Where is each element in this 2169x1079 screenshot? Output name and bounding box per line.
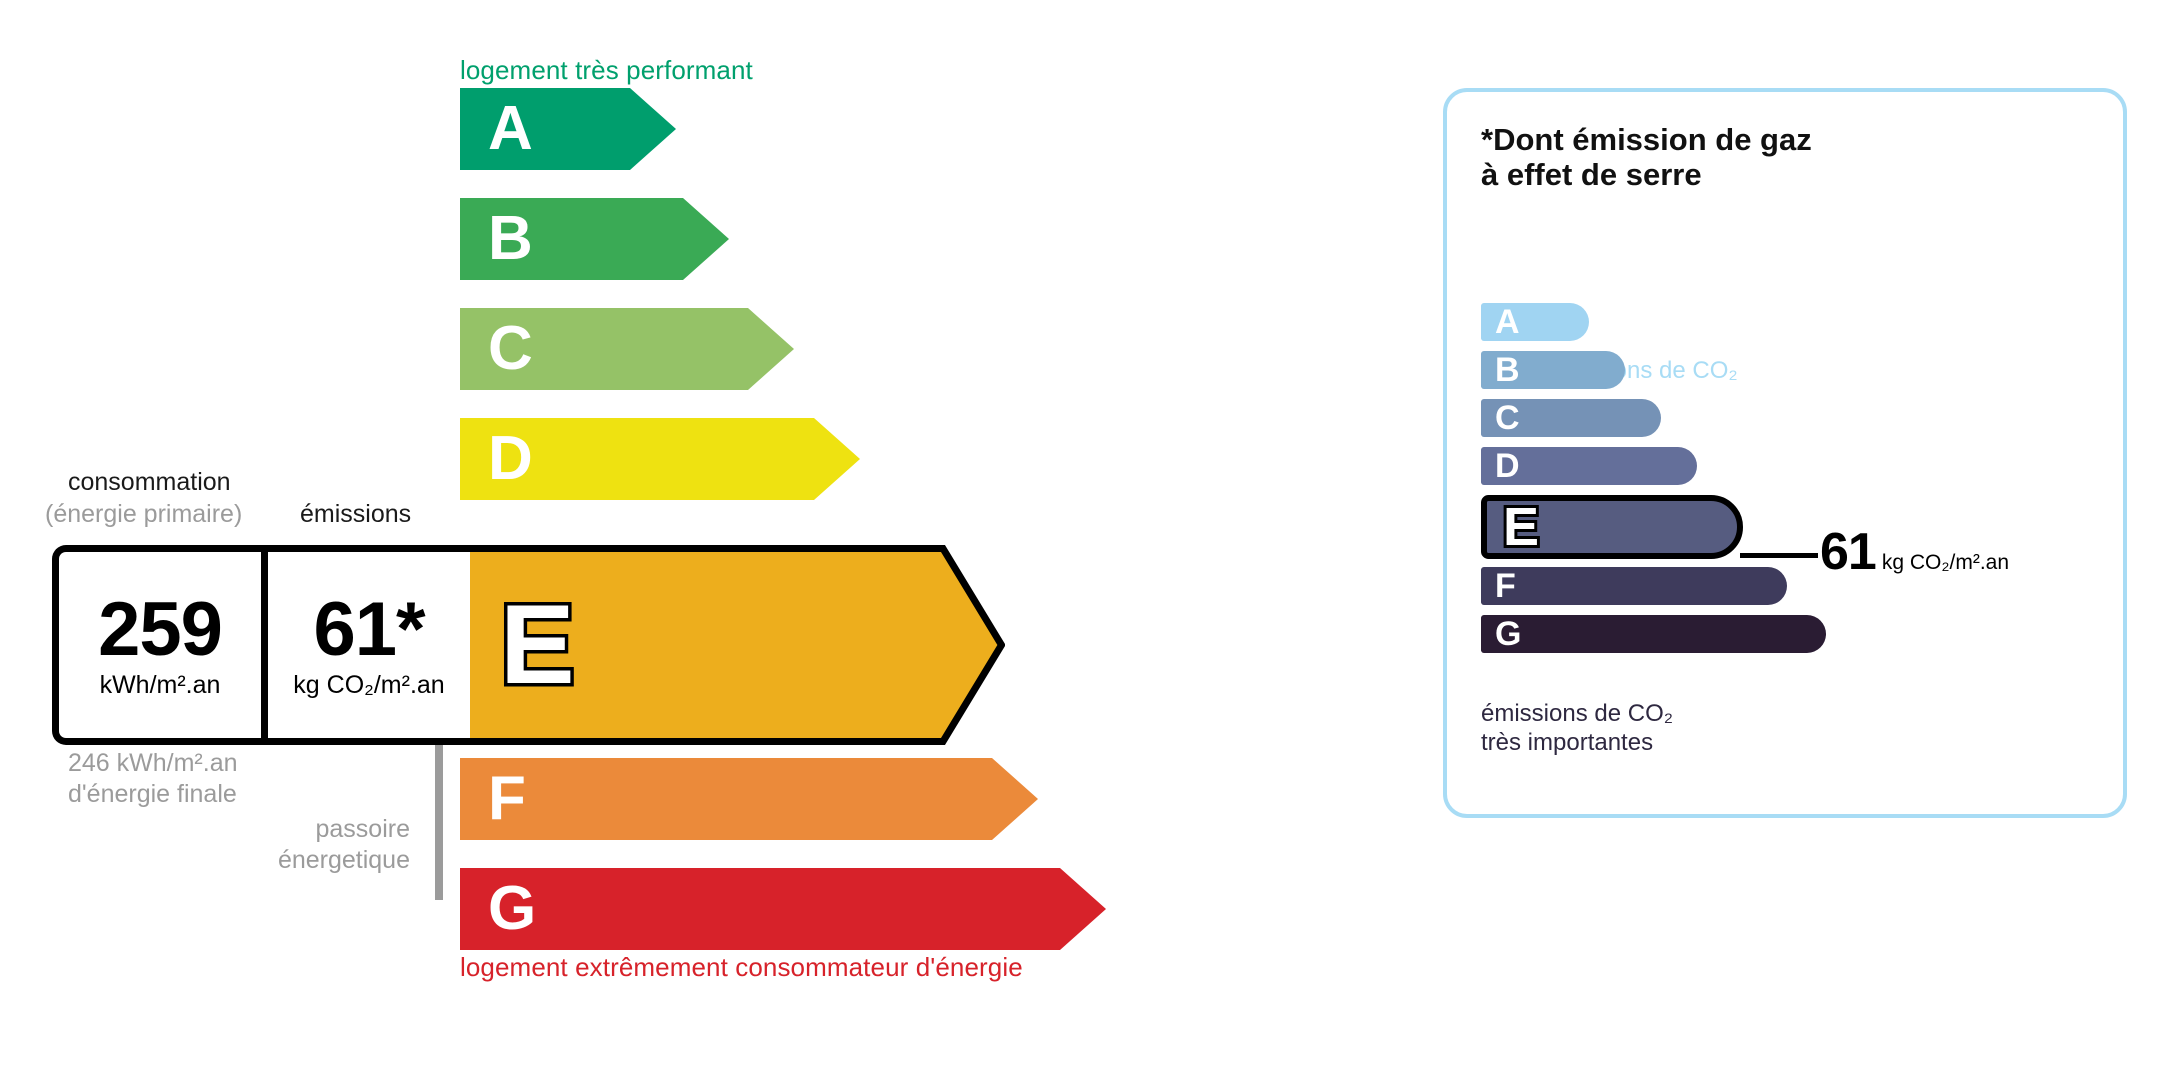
energy-class-letter-e: E (500, 589, 575, 701)
co2-class-g: G (1481, 615, 1826, 653)
co2-class-e: E (1481, 495, 1743, 559)
passoire-line-2: énergetique (200, 845, 410, 876)
energy-top-caption: logement très performant (460, 55, 753, 86)
energy-scale-panel: logement très performant ABCDEFG 259 kWh… (0, 0, 1330, 1079)
emissions-label: émissions (300, 500, 411, 529)
energy-class-letter-d: D (488, 428, 533, 490)
energy-class-letter-a: A (488, 98, 533, 160)
energy-bottom-caption: logement extrêmement consommateur d'éner… (460, 952, 1023, 983)
co2-panel: *Dont émission de gaz à effet de serre p… (1443, 88, 2127, 818)
co2-class-letter-f: F (1495, 569, 1516, 603)
co2-value-callout: 61kg CO₂/m².an (1820, 522, 2009, 582)
final-energy-note: 246 kWh/m².an d'énergie finale (68, 748, 238, 809)
co2-title-line-2: à effet de serre (1481, 157, 1812, 192)
co2-class-letter-a: A (1495, 305, 1520, 339)
energy-class-a: A (460, 88, 676, 170)
co2-title-line-1: *Dont émission de gaz (1481, 122, 1812, 157)
co2-value-number: 61 (1820, 523, 1876, 581)
passoire-line-1: passoire (200, 814, 410, 845)
co2-class-b: B (1481, 351, 1625, 389)
co2-class-letter-b: B (1495, 353, 1520, 387)
final-energy-line-2: d'énergie finale (68, 779, 238, 810)
co2-class-letter-c: C (1495, 401, 1520, 435)
passoire-energetique-label: passoire énergetique (200, 814, 410, 875)
consumption-sublabel: (énergie primaire) (45, 500, 242, 529)
passoire-bracket (435, 742, 443, 900)
co2-value-unit: kg CO₂/m².an (1882, 551, 2009, 574)
co2-class-a: A (1481, 303, 1589, 341)
energy-class-d: D (460, 418, 860, 500)
co2-bar-e: E (1481, 495, 1743, 559)
energy-class-letter-b: B (488, 208, 533, 270)
energy-class-letter-g: G (488, 878, 536, 940)
co2-bar-f: F (1481, 567, 1787, 605)
co2-bottom-caption: émissions de CO₂ très importantes (1481, 700, 1673, 758)
co2-bar-d: D (1481, 447, 1697, 485)
co2-bottom-line-2: très importantes (1481, 729, 1673, 758)
value-box: 259 kWh/m².an 61* kg CO₂/m².an (52, 545, 470, 745)
co2-bar-b: B (1481, 351, 1625, 389)
co2-class-c: C (1481, 399, 1661, 437)
co2-class-f: F (1481, 567, 1787, 605)
co2-class-d: D (1481, 447, 1697, 485)
co2-class-letter-e: E (1503, 500, 1539, 554)
dpe-label: logement très performant ABCDEFG 259 kWh… (0, 0, 2169, 1079)
final-energy-line-1: 246 kWh/m².an (68, 748, 238, 779)
emissions-unit: kg CO₂/m².an (293, 671, 444, 700)
co2-leader-line (1740, 553, 1818, 558)
co2-bar-c: C (1481, 399, 1661, 437)
consumption-label: consommation (68, 468, 231, 497)
co2-bar-a: A (1481, 303, 1589, 341)
energy-class-g: G (460, 868, 1106, 950)
energy-class-letter-c: C (488, 318, 533, 380)
consumption-cell: 259 kWh/m².an (59, 552, 261, 738)
co2-class-letter-d: D (1495, 449, 1520, 483)
consumption-value: 259 (98, 594, 222, 666)
co2-bar-g: G (1481, 615, 1826, 653)
energy-class-f: F (460, 758, 1038, 840)
consumption-unit: kWh/m².an (100, 671, 221, 700)
energy-class-letter-f: F (488, 768, 526, 830)
co2-bottom-line-1: émissions de CO₂ (1481, 700, 1673, 729)
co2-class-letter-g: G (1495, 617, 1521, 651)
energy-class-b: B (460, 198, 729, 280)
emissions-value: 61* (313, 594, 424, 666)
energy-class-c: C (460, 308, 794, 390)
co2-panel-title: *Dont émission de gaz à effet de serre (1481, 122, 1812, 193)
emissions-cell: 61* kg CO₂/m².an (261, 552, 470, 738)
energy-class-e: E (460, 545, 1005, 745)
